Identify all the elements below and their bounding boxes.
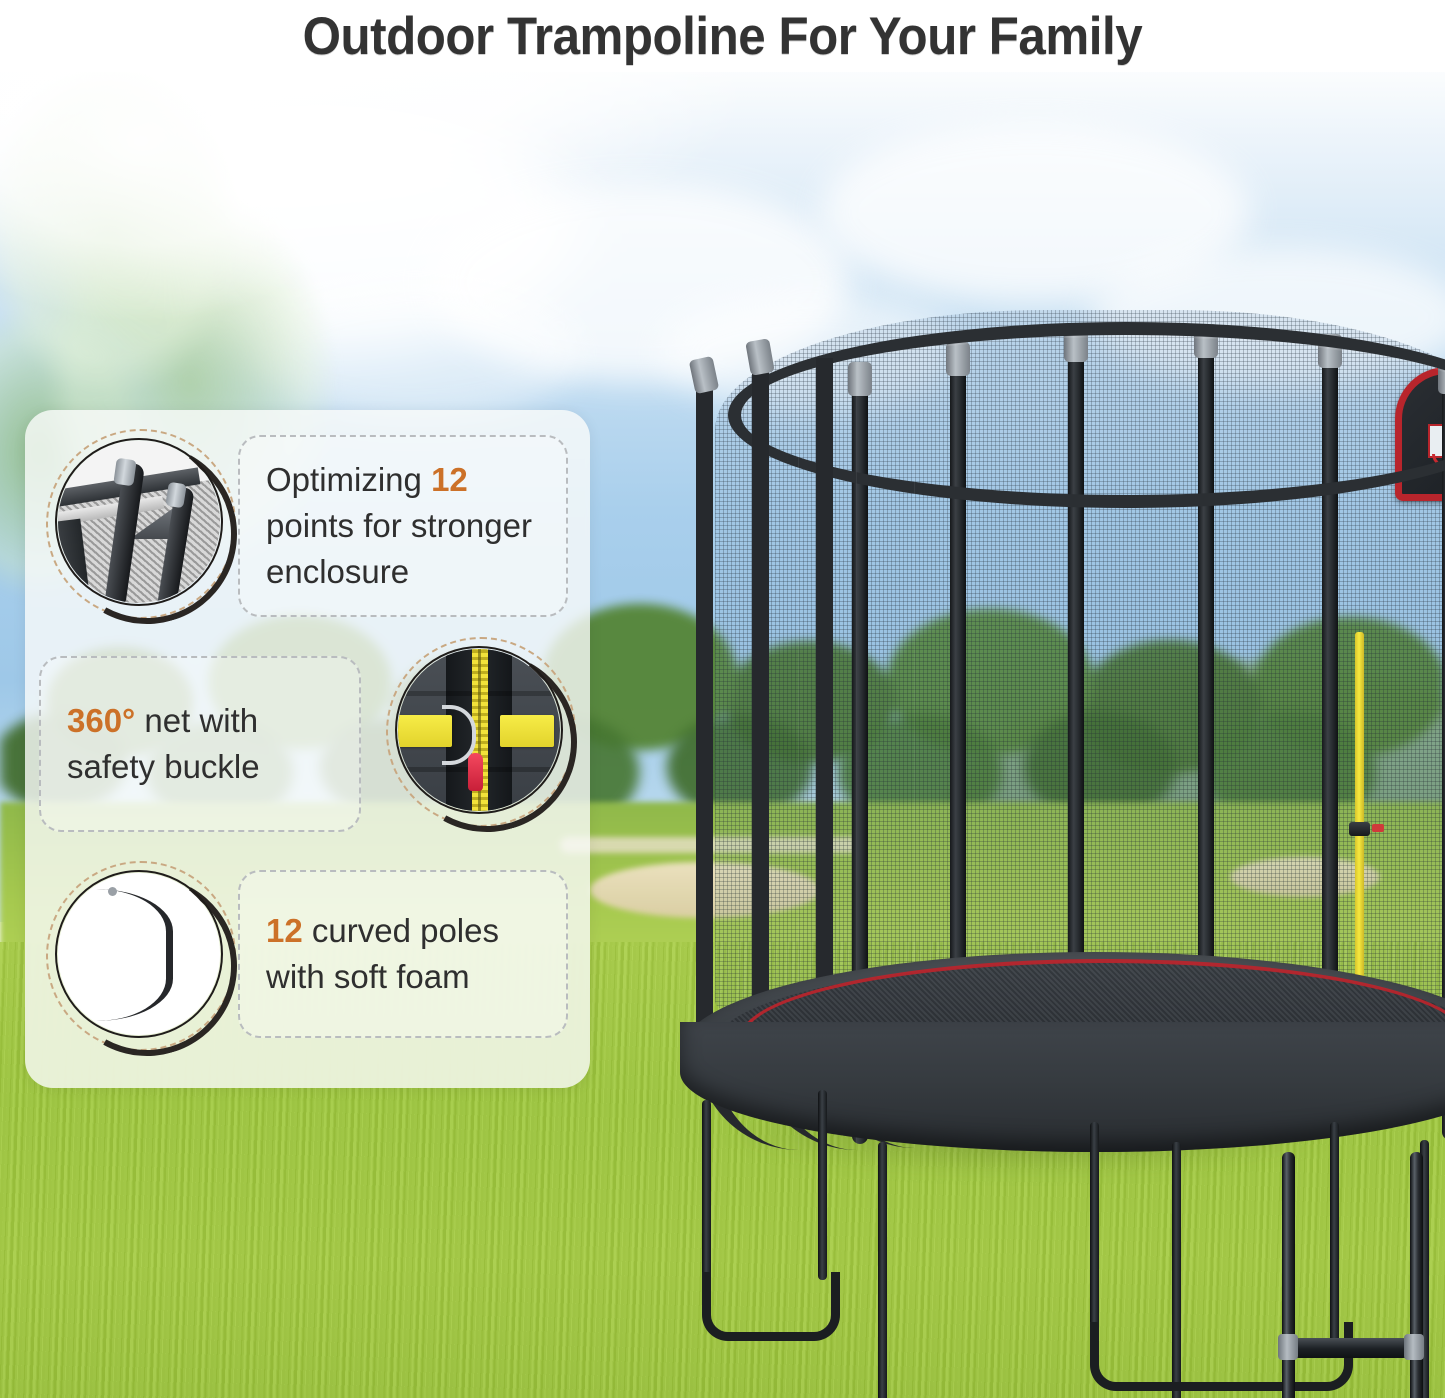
feature-text-2: 360° net with safety buckle: [41, 698, 359, 790]
feature-panel: Optimizing 12 points for stronger enclos…: [25, 410, 590, 1088]
ladder-clamp: [1278, 1334, 1298, 1360]
feature-text-1: Optimizing 12 points for stronger enclos…: [240, 457, 566, 595]
feature-text-1-highlight: 12: [431, 461, 468, 498]
ladder-clamp: [1404, 1334, 1424, 1360]
feature-text-box-3: 12 curved poles with soft foam: [238, 870, 568, 1038]
leg-foot: [702, 1272, 840, 1341]
feature-text-1-part-a: Optimizing: [266, 461, 431, 498]
leg-vertical: [1330, 1122, 1339, 1347]
feature-text-3: 12 curved poles with soft foam: [240, 908, 566, 1000]
leg-vertical: [878, 1142, 887, 1398]
circle-outline: [395, 646, 563, 814]
feature-text-box-1: Optimizing 12 points for stronger enclos…: [238, 435, 568, 617]
leg-vertical: [702, 1100, 711, 1300]
trampoline-product: [620, 262, 1445, 1398]
feature-text-3-highlight: 12: [266, 912, 303, 949]
pole-cap: [689, 356, 720, 394]
feature-image-circle-3: [55, 870, 223, 1038]
feature-image-circle-2: [395, 646, 563, 814]
strap-red-marker: [1372, 824, 1384, 832]
sun-glare: [0, 62, 560, 442]
leg-vertical: [1090, 1122, 1099, 1347]
leg-vertical: [818, 1090, 827, 1280]
feature-text-1-part-c: points for stronger enclosure: [266, 507, 532, 590]
circle-outline: [55, 438, 223, 606]
title-bar: Outdoor Trampoline For Your Family: [0, 0, 1445, 72]
feature-text-2-highlight: 360°: [67, 702, 135, 739]
strap-clip: [1349, 822, 1370, 836]
product-marketing-image: Optimizing 12 points for stronger enclos…: [0, 0, 1445, 1398]
feature-image-circle-1: [55, 438, 223, 606]
ladder-step[interactable]: [1292, 1338, 1410, 1358]
pole-cap: [745, 338, 775, 376]
ladder-rail[interactable]: [1410, 1152, 1423, 1398]
feature-text-box-2: 360° net with safety buckle: [39, 656, 361, 832]
circle-outline: [55, 870, 223, 1038]
page-title: Outdoor Trampoline For Your Family: [303, 6, 1143, 67]
ladder-rail[interactable]: [1282, 1152, 1295, 1398]
